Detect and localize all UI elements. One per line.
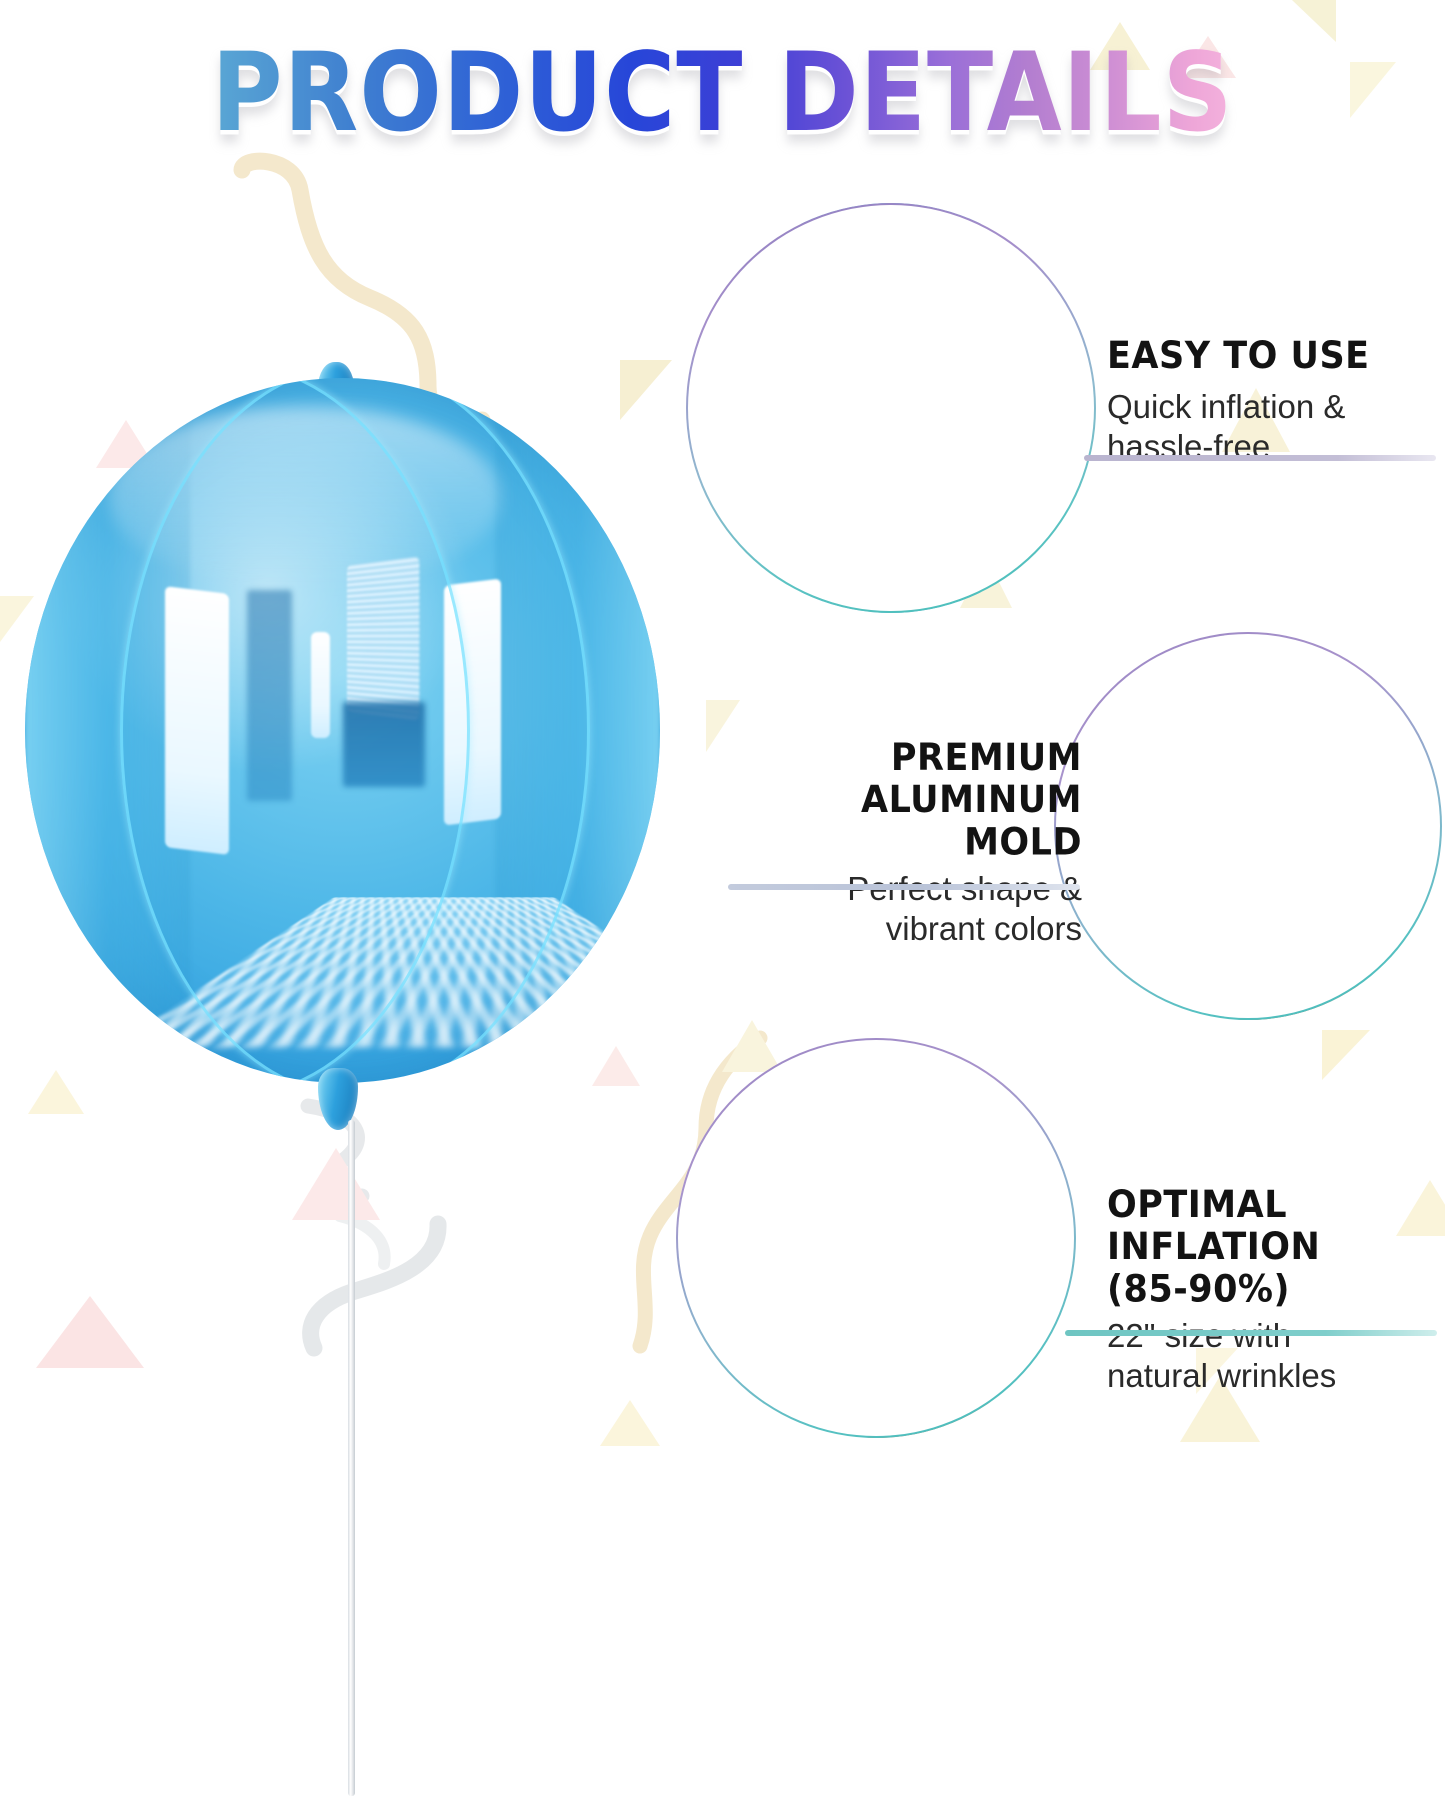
foil-balloon-image	[1070, 659, 1427, 993]
feature-heading-line-1: OPTIMAL INFLATION	[1107, 1184, 1320, 1269]
valve-wrinkle	[830, 206, 953, 307]
feature-body-premium-aluminum-mold: Perfect shape & vibrant colors	[752, 869, 1082, 950]
valve-up-arrow-icon: ↑	[886, 406, 908, 432]
feature-optimal-inflation: OPTIMAL INFLATION (85-90%) 22" size with…	[1107, 1185, 1445, 1396]
orb-seam-left	[25, 378, 470, 1083]
feature-easy-to-use: EASY TO USE Quick inflation & hassle-fre…	[1107, 336, 1437, 467]
hand-holding-balloon	[1264, 977, 1365, 1020]
confetti-triangle-cream	[1292, 0, 1336, 42]
foil-center-seam	[1205, 666, 1291, 986]
confetti-triangle-cream	[722, 1020, 782, 1072]
valve-label-badge: valve ↑	[831, 348, 951, 468]
feature-body-line-2: vibrant colors	[886, 910, 1082, 947]
feature-divider-easy-to-use	[1084, 455, 1436, 461]
feature-body-optimal-inflation: 22" size with natural wrinkles	[1107, 1316, 1445, 1397]
feature-heading-premium-aluminum-mold: PREMIUM ALUMINUM MOLD	[752, 738, 1082, 865]
feature-body-line-1: Quick inflation &	[1107, 388, 1345, 425]
confetti-triangle-cream	[1322, 1030, 1370, 1080]
feature-heading-line-2: ALUMINUM MOLD	[861, 779, 1082, 864]
detail-photo-valve: valve ↑	[686, 203, 1096, 613]
page-title-container: PRODUCT DETAILS	[0, 42, 1445, 144]
feature-heading-optimal-inflation: OPTIMAL INFLATION (85-90%)	[1107, 1185, 1445, 1312]
page-title: PRODUCT DETAILS	[212, 36, 1234, 150]
balloon-stick	[348, 1120, 355, 1796]
feature-divider-premium-aluminum-mold	[728, 884, 1080, 890]
detail-photo-aluminum-mold	[1054, 632, 1442, 1020]
feature-divider-optimal-inflation	[1065, 1330, 1437, 1336]
balloon-orb	[25, 378, 660, 1083]
main-product-image	[0, 350, 700, 1446]
valve-label-text: valve	[860, 380, 922, 405]
feature-heading-line-1: PREMIUM	[891, 737, 1082, 779]
hand-holding-balloon	[892, 1394, 996, 1438]
confetti-triangle-cream	[706, 700, 740, 752]
feature-body-line-2: natural wrinkles	[1107, 1357, 1336, 1394]
detail-photo-optimal-inflation	[676, 1038, 1076, 1438]
red-dashed-highlight-ellipse	[810, 1062, 942, 1406]
feature-heading-easy-to-use: EASY TO USE	[1107, 336, 1437, 378]
feature-heading-line-2: (85-90%)	[1107, 1269, 1290, 1311]
valve-seam	[804, 546, 977, 556]
feature-premium-aluminum-mold: PREMIUM ALUMINUM MOLD Perfect shape & vi…	[752, 738, 1082, 949]
